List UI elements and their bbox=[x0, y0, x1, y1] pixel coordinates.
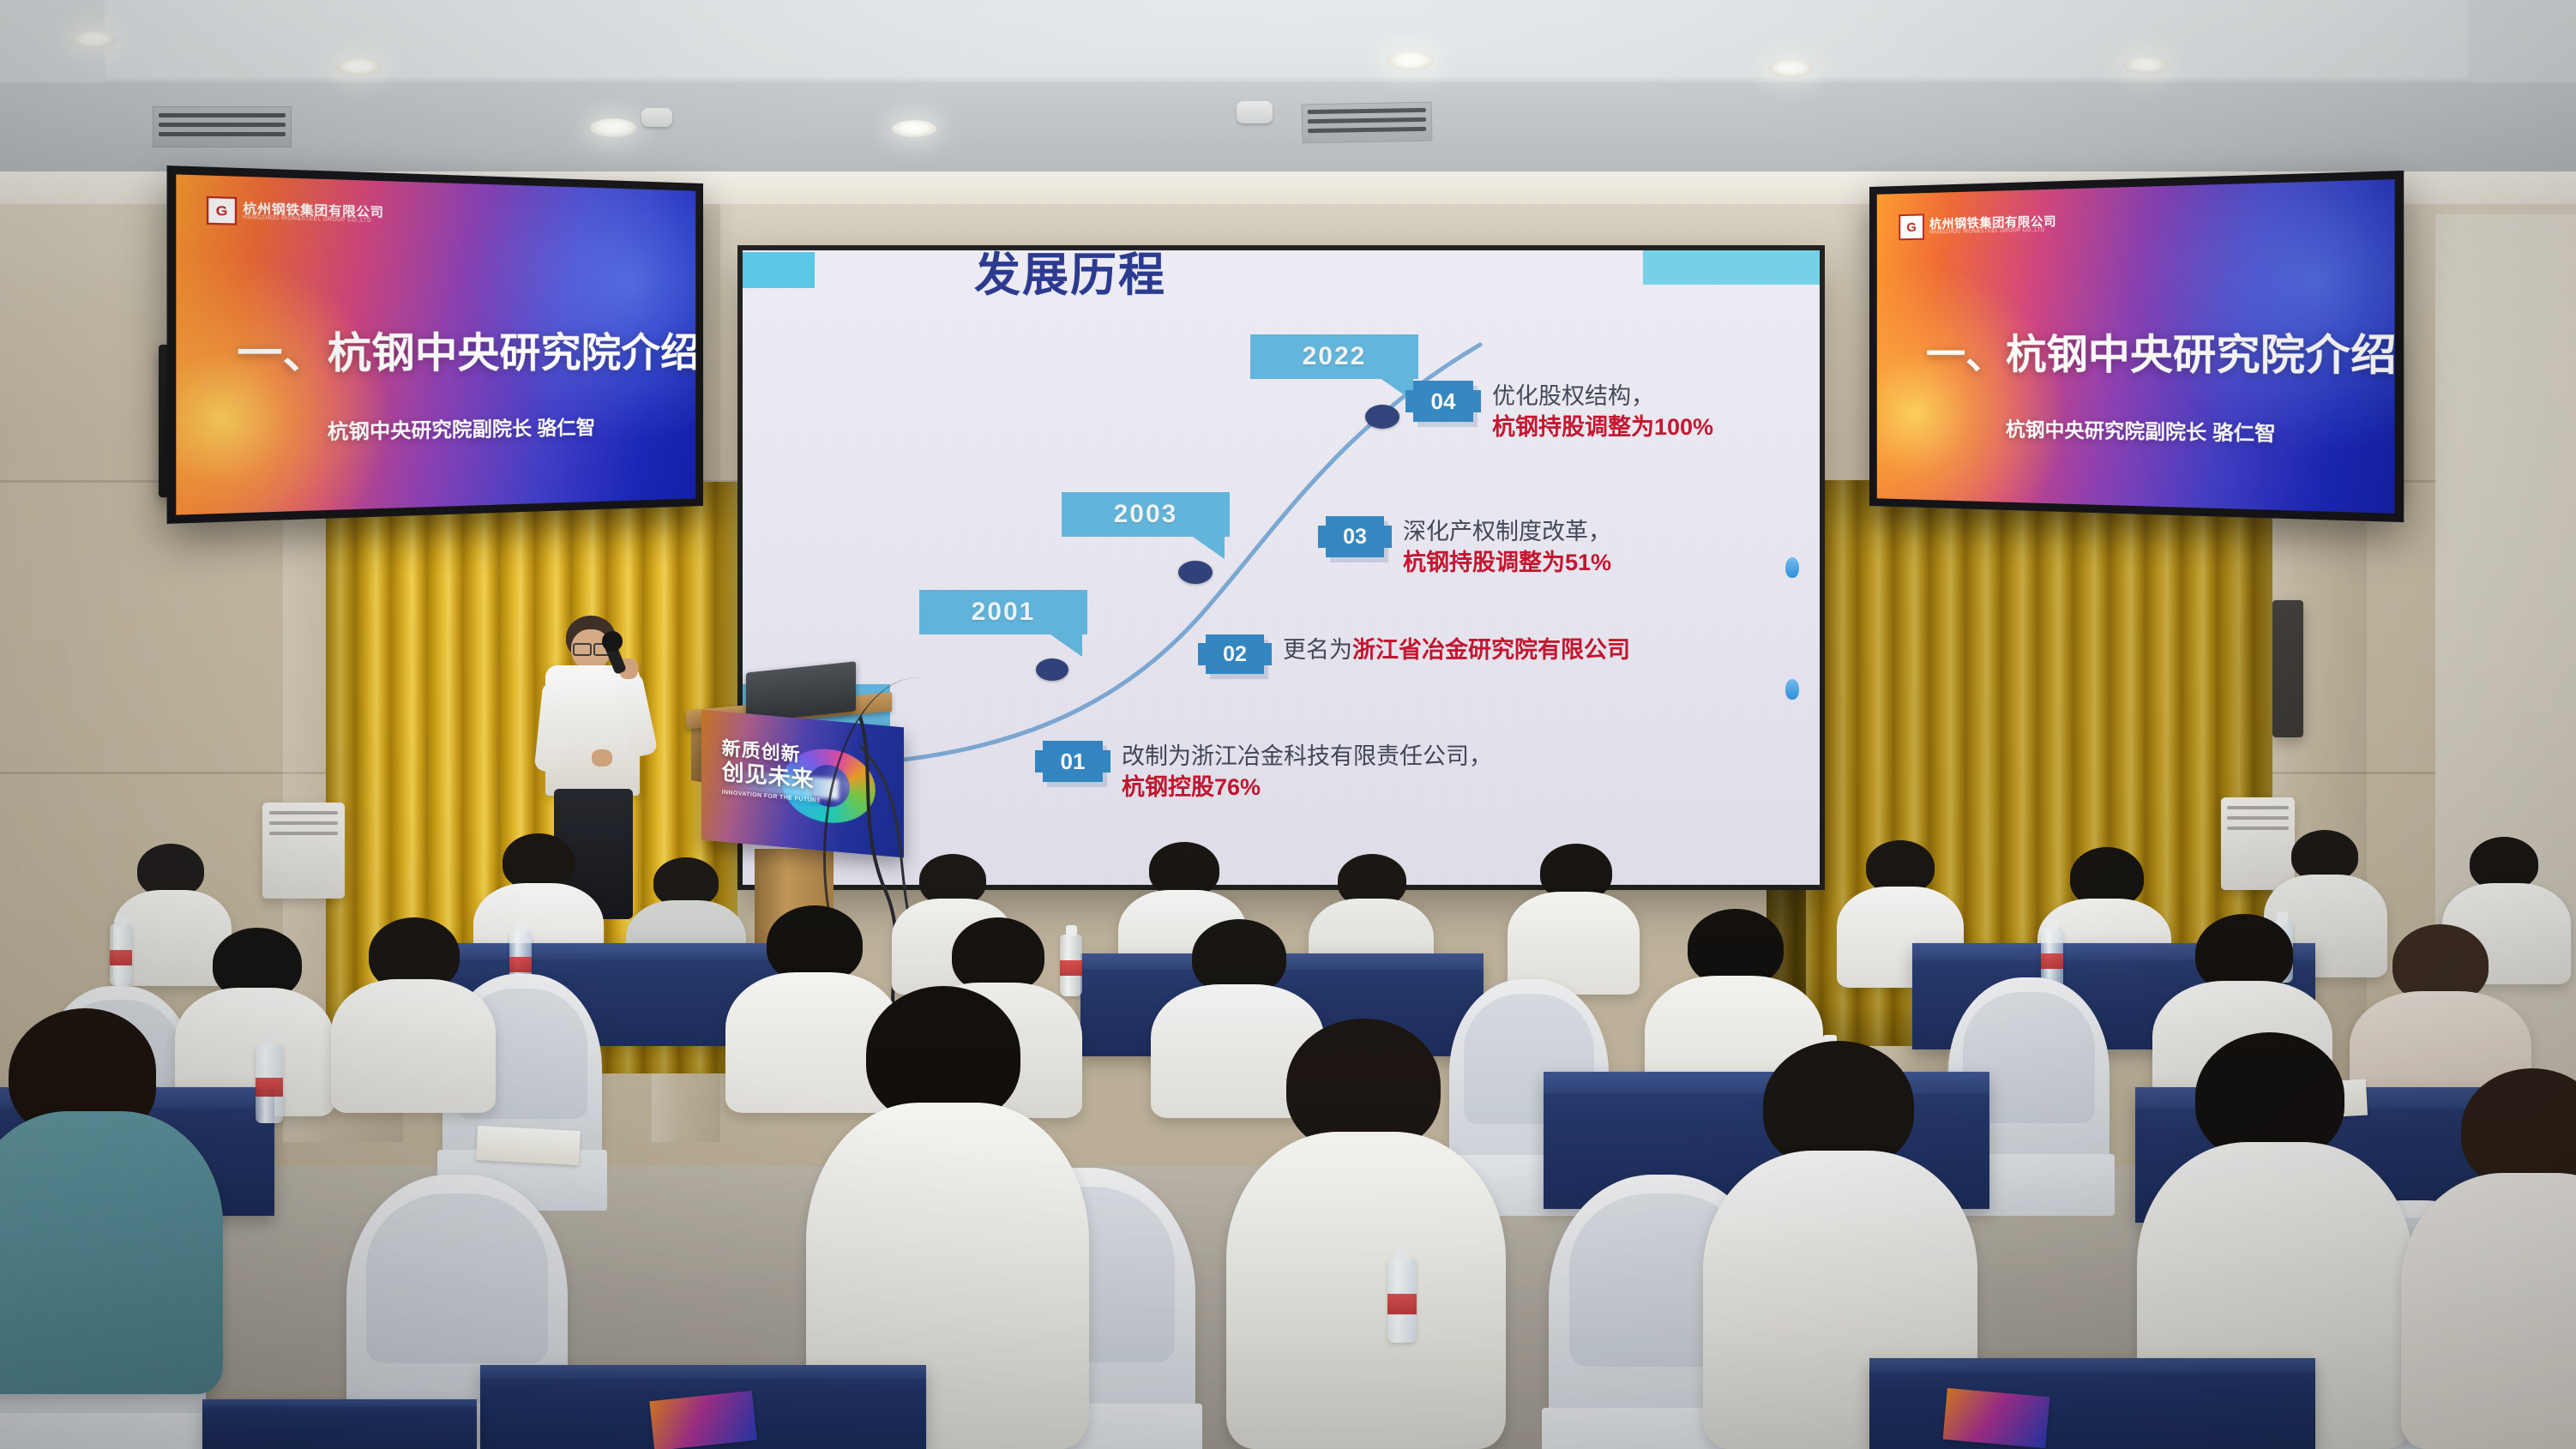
timeline-item-04: 04 优化股权结构， 杭钢持股调整为100% bbox=[1413, 381, 1713, 443]
left-tv-subtitle: 杭钢中央研究院副院长 骆仁智 bbox=[328, 412, 595, 446]
audience-head bbox=[137, 844, 204, 897]
presenter-hand-left bbox=[592, 749, 612, 767]
left-display-tv: G 杭州钢铁集团有限公司 HANGZHOU IRON&STEEL GROUP C… bbox=[167, 165, 703, 524]
ceiling-downlight bbox=[1387, 51, 1434, 70]
item-line-1: 优化股权结构， bbox=[1492, 381, 1713, 412]
item-line-1-highlight: 浙江省冶金研究院有限公司 bbox=[1352, 637, 1630, 663]
left-tv-screen: G 杭州钢铁集团有限公司 HANGZHOU IRON&STEEL GROUP C… bbox=[176, 174, 695, 514]
audience-body bbox=[331, 979, 496, 1113]
ceiling-recess bbox=[103, 0, 2470, 82]
left-tv-logo: G 杭州钢铁集团有限公司 HANGZHOU IRON&STEEL GROUP C… bbox=[207, 196, 384, 229]
ceiling-downlight bbox=[1768, 60, 1813, 77]
conference-booklet[interactable] bbox=[1943, 1388, 2050, 1448]
microphone-head bbox=[602, 631, 623, 652]
right-tv-screen: G 杭州钢铁集团有限公司 HANGZHOU IRON&STEEL GROUP C… bbox=[1877, 179, 2395, 514]
item-badge-03: 03 bbox=[1326, 516, 1384, 557]
smoke-detector-icon bbox=[641, 108, 672, 127]
decor-dot-icon bbox=[1785, 679, 1799, 700]
right-tv-subtitle: 杭钢中央研究院副院长 骆仁智 bbox=[2006, 414, 2276, 447]
timeline-item-03: 03 深化产权制度改革， 杭钢持股调整为51% bbox=[1326, 516, 1611, 579]
conference-booklet[interactable] bbox=[649, 1391, 756, 1449]
timeline-item-01: 01 改制为浙江冶金科技有限责任公司， 杭钢控股76% bbox=[1043, 741, 1492, 803]
handout-paper[interactable] bbox=[476, 1126, 581, 1165]
timeline-node-2001 bbox=[1036, 658, 1068, 681]
decor-dot-icon bbox=[1785, 557, 1799, 578]
audience-head bbox=[919, 854, 986, 905]
year-flag-label: 2003 bbox=[1114, 500, 1178, 529]
audience-body-floral bbox=[0, 1111, 223, 1394]
audience-head bbox=[503, 833, 575, 890]
ceiling-downlight bbox=[336, 58, 381, 75]
audience-body bbox=[2401, 1173, 2576, 1449]
ceiling-air-vent bbox=[1302, 102, 1433, 144]
item-line-1: 改制为浙江冶金科技有限责任公司， bbox=[1122, 741, 1492, 772]
audience-head bbox=[1192, 919, 1286, 995]
water-bottle[interactable] bbox=[1387, 1259, 1417, 1343]
item-line-1: 更名为浙江省冶金研究院有限公司 bbox=[1283, 634, 1630, 665]
floor-ac-unit bbox=[262, 803, 345, 899]
smoke-detector-icon bbox=[1237, 101, 1273, 123]
ceiling-downlight bbox=[2123, 57, 2168, 74]
item-line-2: 杭钢持股调整为100% bbox=[1492, 412, 1713, 442]
ceiling-band bbox=[0, 82, 2576, 178]
year-flag-label: 2001 bbox=[972, 598, 1036, 627]
item-text-04: 优化股权结构， 杭钢持股调整为100% bbox=[1492, 381, 1713, 443]
item-badge-01: 01 bbox=[1043, 741, 1103, 782]
right-tv-title: 一、杭钢中央研究院介绍 bbox=[1926, 321, 2395, 383]
conference-hall-photo: 发展历程 1999 2001 2003 2022 01 改制为浙江冶金科技有限责… bbox=[0, 0, 2576, 1449]
presenter-glasses bbox=[573, 643, 592, 656]
left-tv-title: 一、杭钢中央研究院介绍 bbox=[237, 319, 695, 381]
ceiling-downlight bbox=[892, 120, 936, 137]
water-bottle[interactable] bbox=[1060, 935, 1082, 996]
year-flag-label: 2022 bbox=[1303, 342, 1367, 371]
year-flag-2022: 2022 bbox=[1250, 334, 1418, 379]
podium-banner-text: 新质创新 创见未来 INNOVATION FOR THE FUTURE bbox=[722, 737, 822, 804]
water-bottle[interactable] bbox=[110, 924, 132, 986]
year-flag-2003: 2003 bbox=[1062, 492, 1230, 537]
item-text-03: 深化产权制度改革， 杭钢持股调整为51% bbox=[1403, 516, 1611, 579]
year-flag-2001: 2001 bbox=[919, 590, 1087, 634]
right-tv-logo: G 杭州钢铁集团有限公司 HANGZHOU IRON&STEEL GROUP C… bbox=[1899, 210, 2056, 240]
company-logo-mark: G bbox=[1899, 213, 1924, 240]
audience-table bbox=[1869, 1358, 2315, 1449]
item-text-02: 更名为浙江省冶金研究院有限公司 bbox=[1283, 634, 1630, 665]
item-line-1: 深化产权制度改革， bbox=[1403, 516, 1611, 547]
audience-head bbox=[767, 905, 863, 983]
item-line-2: 杭钢控股76% bbox=[1122, 772, 1492, 803]
timeline-item-02: 02 更名为浙江省冶金研究院有限公司 bbox=[1206, 634, 1630, 674]
item-badge-02: 02 bbox=[1206, 634, 1264, 674]
timeline-node-2022 bbox=[1365, 405, 1399, 429]
ceiling-downlight bbox=[590, 118, 636, 137]
timeline-node-2003 bbox=[1178, 561, 1213, 584]
audience-body bbox=[1226, 1132, 1506, 1449]
audience-head bbox=[1866, 840, 1935, 893]
wall-speaker bbox=[2272, 600, 2303, 737]
audience-head bbox=[952, 917, 1044, 993]
audience-head bbox=[2291, 830, 2358, 881]
floor-ac-unit bbox=[2221, 797, 2295, 890]
audience-table bbox=[202, 1399, 477, 1449]
item-text-01: 改制为浙江冶金科技有限责任公司， 杭钢控股76% bbox=[1122, 741, 1492, 803]
item-line-2: 杭钢持股调整为51% bbox=[1403, 547, 1611, 578]
audience-head bbox=[2470, 837, 2538, 890]
ceiling-air-vent bbox=[153, 106, 292, 147]
item-line-1-prefix: 更名为 bbox=[1283, 637, 1352, 663]
water-bottle[interactable] bbox=[256, 1044, 283, 1123]
item-badge-04: 04 bbox=[1413, 381, 1473, 422]
audience-head bbox=[1149, 842, 1219, 897]
ceiling-downlight bbox=[72, 31, 117, 48]
audience-head bbox=[1688, 909, 1784, 986]
right-display-tv: G 杭州钢铁集团有限公司 HANGZHOU IRON&STEEL GROUP C… bbox=[1869, 171, 2404, 522]
company-logo-mark: G bbox=[207, 196, 237, 225]
